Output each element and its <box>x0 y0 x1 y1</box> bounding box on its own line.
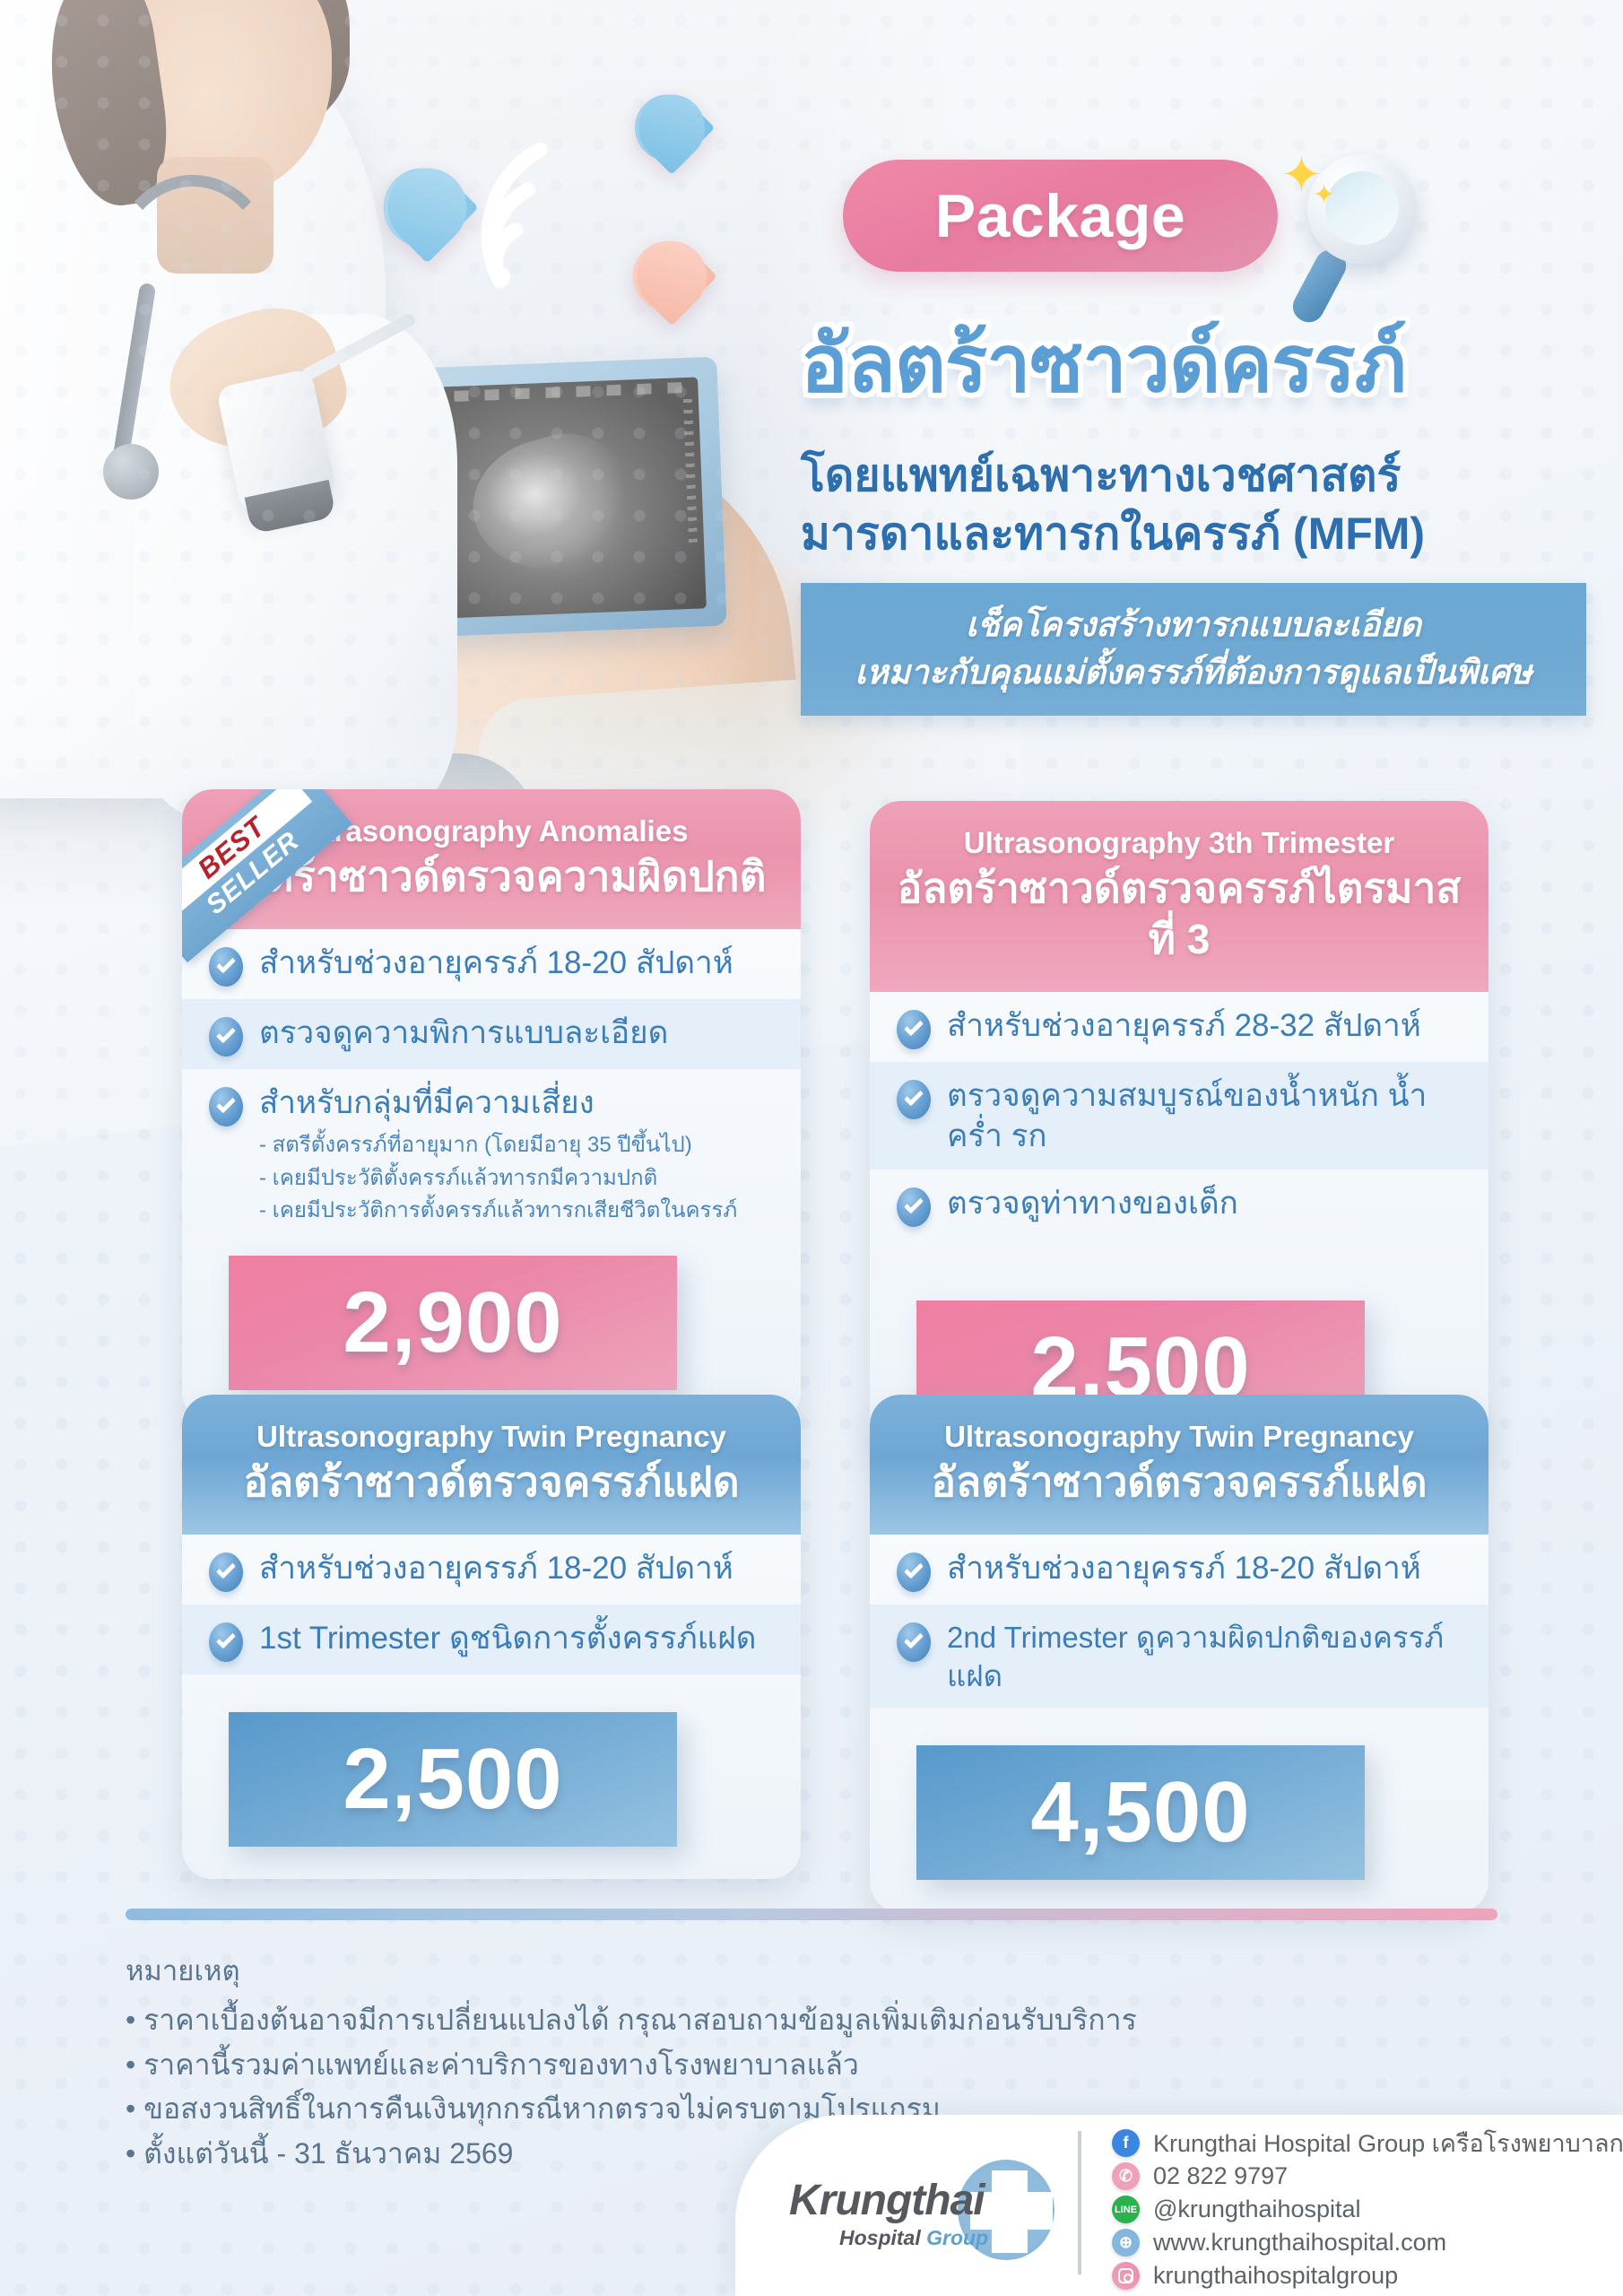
magnifier-icon: ✦ ✦ <box>1288 154 1424 291</box>
feature-item: 2nd Trimester ดูความผิดปกติของครรภ์แฝด <box>870 1605 1488 1707</box>
instagram-icon <box>1112 2262 1140 2290</box>
poster-root: ✦ ✦ Package อัลตร้าซาวด์ครรภ์ โดยแพทย์เฉ… <box>0 0 1623 2296</box>
feature-item: สำหรับกลุ่มที่มีความเสี่ยง - สตรีตั้งครร… <box>182 1069 801 1239</box>
phone-icon: ✆ <box>1112 2162 1140 2190</box>
banner-line-1: เช็คโครงสร้างทารกแบบละเอียด <box>966 602 1421 649</box>
contact-text: Krungthai Hospital Group เครือโรงพยาบาลก… <box>1153 2124 1623 2162</box>
feature-subitem: - สตรีตั้งครรภ์ที่อายุมาก (โดยมีอายุ 35 … <box>259 1129 737 1161</box>
card-title-en: Ultrasonography 3th Trimester <box>890 824 1469 861</box>
price-block: 4,500 <box>916 1745 1365 1880</box>
card-header: Ultrasonography Twin Pregnancy อัลตร้าซา… <box>182 1395 801 1535</box>
feature-text: 1st Trimester ดูชนิดการตั้งครรภ์แฝด <box>259 1619 756 1659</box>
card-title-th: อัลตร้าซาวด์ตรวจครรภ์แฝด <box>202 1457 781 1508</box>
feature-list: สำหรับช่วงอายุครรภ์ 28-32 สัปดาห์ ตรวจดู… <box>870 992 1488 1239</box>
card-header: Ultrasonography 3th Trimester อัลตร้าซาว… <box>870 801 1488 992</box>
feature-text: สำหรับกลุ่มที่มีความเสี่ยง <box>259 1083 737 1124</box>
contact-row[interactable]: LINE @krungthaihospital <box>1112 2194 1623 2225</box>
feature-text: สำหรับช่วงอายุครรภ์ 18-20 สัปดาห์ <box>259 944 733 984</box>
feature-item: ตรวจดูความพิการแบบละเอียด <box>182 999 801 1069</box>
check-icon <box>897 1552 931 1592</box>
package-card[interactable]: Ultrasonography Twin Pregnancy อัลตร้าซา… <box>182 1395 801 1879</box>
check-icon <box>209 1087 243 1126</box>
contact-row[interactable]: ✆ 02 822 9797 <box>1112 2161 1623 2192</box>
price-value: 2,900 <box>343 1274 562 1372</box>
logo-sub-left: Hospital <box>839 2226 926 2249</box>
banner-line-2: เหมาะกับคุณแม่ตั้งครรภ์ที่ต้องการดูแลเป็… <box>855 649 1532 697</box>
price-value: 2,500 <box>343 1730 562 1829</box>
check-icon <box>897 1010 931 1049</box>
logo-sub-right: Group <box>926 2226 988 2249</box>
line-icon: LINE <box>1112 2196 1140 2223</box>
contact-row[interactable]: ⊕ www.krungthaihospital.com <box>1112 2227 1623 2258</box>
contact-text: @krungthaihospital <box>1153 2196 1361 2223</box>
feature-text: ตรวจดูท่าทางของเด็ก <box>947 1184 1238 1224</box>
notes-title: หมายเหตุ <box>126 1948 1426 1993</box>
note-item: ราคานี้รวมค่าแพทย์และค่าบริการของทางโรงพ… <box>126 2043 1426 2088</box>
logo-subtitle: Hospital Group <box>839 2226 988 2250</box>
page-subtitle: โดยแพทย์เฉพาะทางเวชศาสตร์ มารดาและทารกใน… <box>801 447 1608 563</box>
price-block: 2,500 <box>229 1712 677 1847</box>
feature-text: สำหรับช่วงอายุครรภ์ 28-32 สัปดาห์ <box>947 1006 1421 1047</box>
facebook-icon: f <box>1112 2129 1140 2157</box>
feature-text: สำหรับช่วงอายุครรภ์ 18-20 สัปดาห์ <box>947 1549 1421 1589</box>
card-header: Ultrasonography Twin Pregnancy อัลตร้าซา… <box>870 1395 1488 1535</box>
feature-list: สำหรับช่วงอายุครรภ์ 18-20 สัปดาห์ ตรวจดู… <box>182 929 801 1239</box>
check-icon <box>897 1622 931 1662</box>
feature-sublist: - สตรีตั้งครรภ์ที่อายุมาก (โดยมีอายุ 35 … <box>259 1129 737 1227</box>
check-icon <box>209 1017 243 1057</box>
check-icon <box>209 1552 243 1592</box>
note-item: ราคาเบื้องต้นอาจมีการเปลี่ยนแปลงได้ กรุณ… <box>126 1998 1426 2043</box>
feature-text: สำหรับช่วงอายุครรภ์ 18-20 สัปดาห์ <box>259 1549 733 1589</box>
package-badge-label: Package <box>935 181 1185 251</box>
feature-subitem: - เคยมีประวัติตั้งครรภ์แล้วทารกมีความปกต… <box>259 1162 737 1195</box>
price-value: 4,500 <box>1030 1763 1250 1862</box>
feature-subitem: - เคยมีประวัติการตั้งครรภ์แล้วทารกเสียชี… <box>259 1195 737 1227</box>
section-divider <box>126 1909 1497 1920</box>
feature-item: สำหรับช่วงอายุครรภ์ 18-20 สัปดาห์ <box>870 1535 1488 1605</box>
contact-text: 02 822 9797 <box>1153 2162 1288 2190</box>
website-icon: ⊕ <box>1112 2229 1140 2257</box>
page-title: อัลตร้าซาวด์ครรภ์ <box>801 323 1590 405</box>
subtitle-line-1: โดยแพทย์เฉพาะทางเวชศาสตร์ <box>801 447 1608 505</box>
card-title-en: Ultrasonography Twin Pregnancy <box>890 1418 1469 1455</box>
logo-name: Krungthai <box>789 2176 985 2225</box>
feature-text: 2nd Trimester ดูความผิดปกติของครรภ์แฝด <box>947 1619 1465 1694</box>
check-icon <box>897 1187 931 1227</box>
contact-text: www.krungthaihospital.com <box>1153 2229 1446 2257</box>
price-block: 2,900 <box>229 1256 677 1390</box>
package-card[interactable]: BEST SELLER Ultrasonography Anomalies อั… <box>182 789 801 1422</box>
check-icon <box>897 1080 931 1119</box>
feature-item: ตรวจดูความสมบูรณ์ของน้ำหนัก น้ำคร่ำ รก <box>870 1062 1488 1170</box>
card-title-th: อัลตร้าซาวด์ตรวจครรภ์แฝด <box>890 1457 1469 1508</box>
contact-text: krungthaihospitalgroup <box>1153 2262 1398 2290</box>
contact-row[interactable]: krungthaihospitalgroup <box>1112 2260 1623 2292</box>
feature-text: ตรวจดูความสมบูรณ์ของน้ำหนัก น้ำคร่ำ รก <box>947 1076 1465 1157</box>
check-icon <box>209 947 243 987</box>
footer: Krungthai Hospital Group f Krungthai Hos… <box>735 2115 1623 2296</box>
feature-text: ตรวจดูความพิการแบบละเอียด <box>259 1013 668 1054</box>
heart-icon <box>386 157 464 236</box>
feature-item: สำหรับช่วงอายุครรภ์ 18-20 สัปดาห์ <box>182 929 801 999</box>
heart-icon <box>637 85 703 152</box>
package-badge: Package <box>843 160 1278 272</box>
feature-item: ตรวจดูท่าทางของเด็ก <box>870 1170 1488 1239</box>
package-card[interactable]: Ultrasonography 3th Trimester อัลตร้าซาว… <box>870 801 1488 1467</box>
feature-item: 1st Trimester ดูชนิดการตั้งครรภ์แฝด <box>182 1605 801 1674</box>
brand-logo: Krungthai Hospital Group <box>789 2156 1058 2264</box>
contact-row[interactable]: f Krungthai Hospital Group เครือโรงพยาบา… <box>1112 2127 1623 2159</box>
feature-item: สำหรับช่วงอายุครรภ์ 18-20 สัปดาห์ <box>182 1535 801 1605</box>
card-title-en: Ultrasonography Twin Pregnancy <box>202 1418 781 1455</box>
heart-icon <box>635 231 705 301</box>
card-title-th: อัลตร้าซาวด์ตรวจครรภ์ไตรมาสที่ 3 <box>890 863 1469 965</box>
feature-list: สำหรับช่วงอายุครรภ์ 18-20 สัปดาห์ 2nd Tr… <box>870 1535 1488 1707</box>
package-card[interactable]: Ultrasonography Twin Pregnancy อัลตร้าซา… <box>870 1395 1488 1912</box>
footer-divider <box>1078 2131 1081 2274</box>
contact-list: f Krungthai Hospital Group เครือโรงพยาบา… <box>1112 2127 1623 2293</box>
feature-list: สำหรับช่วงอายุครรภ์ 18-20 สัปดาห์ 1st Tr… <box>182 1535 801 1674</box>
check-icon <box>209 1622 243 1662</box>
subtitle-line-2: มารดาและทารกในครรภ์ (MFM) <box>801 505 1608 563</box>
feature-item: สำหรับช่วงอายุครรภ์ 28-32 สัปดาห์ <box>870 992 1488 1062</box>
highlight-banner: เช็คโครงสร้างทารกแบบละเอียด เหมาะกับคุณแ… <box>801 583 1586 716</box>
